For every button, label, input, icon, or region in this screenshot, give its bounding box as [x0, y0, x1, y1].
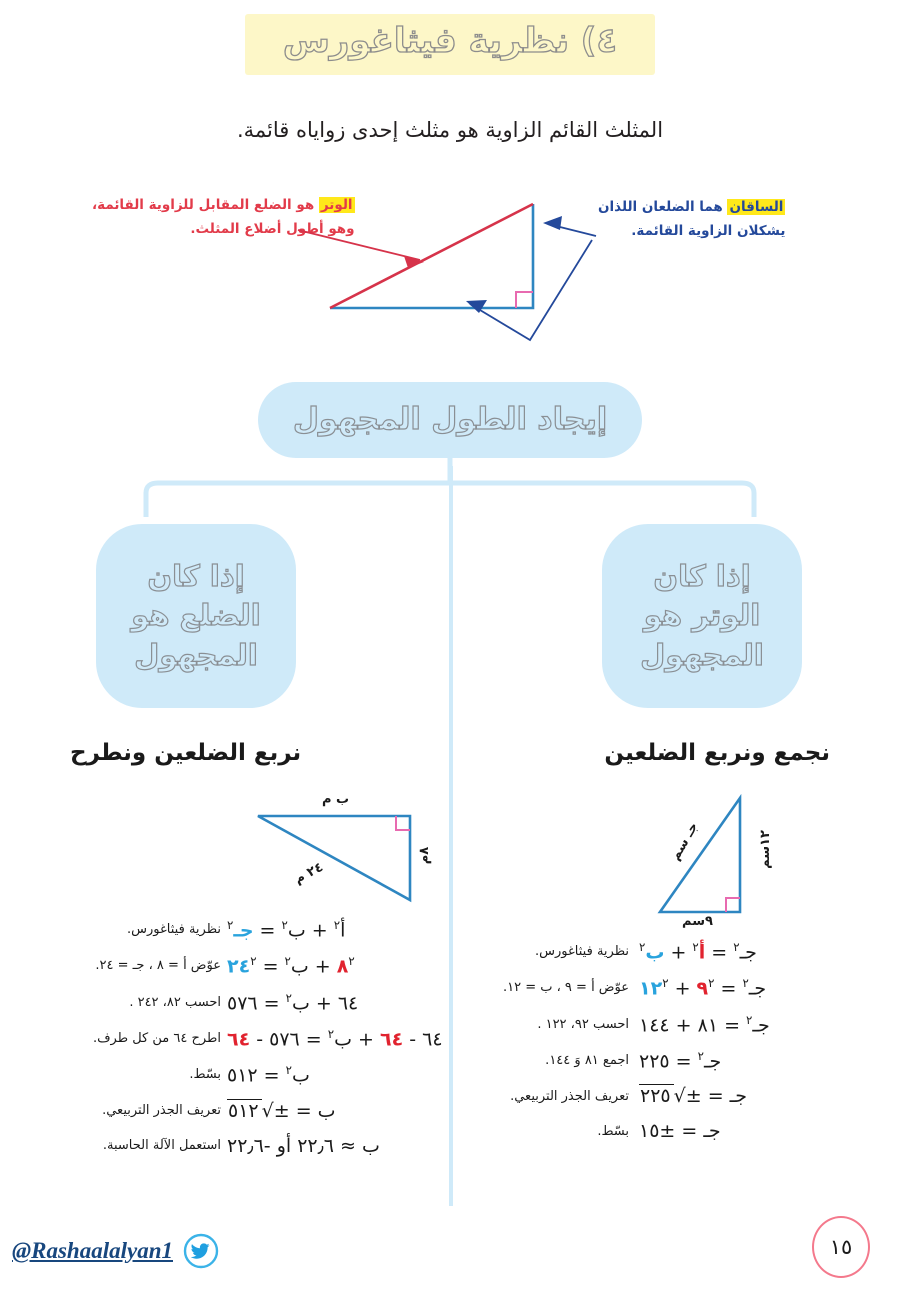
flow-box-hypotenuse-unknown: إذا كان الوتر هو المجهول: [602, 524, 802, 708]
proof-step-row: أ٢ + ب٢ = جـ٢نظرية فيثاغورس.: [52, 918, 452, 941]
twitter-handle-text[interactable]: @Rashaalalyan1: [12, 1238, 173, 1264]
proof-steps-left: أ٢ + ب٢ = جـ٢نظرية فيثاغورس.٨٢ + ب٢ = ٢٤…: [52, 918, 452, 1170]
equation-part: ٦٤: [380, 1028, 403, 1050]
proof-step-equation: جـ٢ = أ٢ + ب٢: [639, 940, 844, 963]
proof-step-row: ب = ±√٥١٢تعريف الجذر التربيعي.: [52, 1100, 452, 1122]
column-heading-right: نجمع ونربع الضلعين: [604, 740, 830, 766]
equation-part: ٦٤ -: [403, 1028, 442, 1050]
figure-right-angle-icon: [726, 898, 740, 912]
equation-part: ٥١٢: [227, 1099, 262, 1122]
equation-part: = ٥٧٦: [227, 992, 286, 1014]
definition-text: المثلث القائم الزاوية هو مثلث إحدى زوايا…: [0, 118, 900, 142]
proof-step-reason: عوّض أ = ٩ ، ب = ١٢.: [454, 980, 639, 995]
flow-box-left-line2: الضلع هو: [131, 596, 260, 635]
proof-step-equation: جـ = ±√٢٢٥: [639, 1085, 844, 1107]
equation-part: ب: [645, 941, 664, 963]
flow-box-right-line1: إذا كان: [640, 557, 764, 596]
title-highlight-badge: ٤) نظرية فيثاغورس: [245, 14, 655, 75]
figure-right-triangle: جـ سم ١٢سم ٩سم: [560, 790, 810, 920]
proof-step-row: ب ≈ ٢٢٫٦ أو -٢٢٫٦استعمل الآلة الحاسبة.: [52, 1135, 452, 1157]
equation-part: =: [705, 941, 733, 963]
flow-box-main-label: إيجاد الطول المجهول: [293, 400, 607, 441]
equation-part: =: [254, 919, 282, 941]
triangle-hypotenuse-path: [330, 204, 533, 308]
flow-box-right-label: إذا كان الوتر هو المجهول: [640, 557, 764, 674]
equation-part: ب: [291, 956, 309, 978]
flow-box-main: إيجاد الطول المجهول: [258, 382, 642, 458]
flow-box-left-line1: إذا كان: [131, 557, 260, 596]
proof-step-reason: عوّض أ = ٨ ، جـ = ٢٤.: [62, 958, 227, 973]
equation-part: +: [669, 978, 697, 1000]
proof-step-row: جـ٢ = ٢٢٥اجمع ٨١ وَ ١٤٤.: [444, 1049, 844, 1072]
triangle-svg: [0, 180, 900, 370]
proof-step-row: جـ = ±√٢٢٥تعريف الجذر التربيعي.: [444, 1085, 844, 1107]
proof-step-row: جـ٢ = أ٢ + ب٢نظرية فيثاغورس.: [444, 940, 844, 963]
proof-step-reason: تعريف الجذر التربيعي.: [62, 1103, 227, 1118]
proof-step-row: ٨٢ + ب٢ = ٢٤٢عوّض أ = ٨ ، جـ = ٢٤.: [52, 954, 452, 977]
equation-part: جـ = ±: [686, 1085, 747, 1107]
proof-step-reason: نظرية فيثاغورس.: [62, 922, 227, 937]
equation-part: ب = ±: [274, 1100, 336, 1122]
proof-step-equation: ٦٤ + ب٢ = ٥٧٦: [227, 991, 452, 1014]
equation-part: ٩: [697, 978, 709, 1000]
equation-part: ب: [292, 992, 310, 1014]
right-angle-marker-icon: [516, 292, 533, 308]
equation-part: ب: [292, 1065, 310, 1087]
proof-step-reason: احسب ٩٢، ١٢٢ .: [454, 1017, 639, 1032]
equation-part: أ: [340, 919, 345, 941]
equation-part: +: [664, 941, 692, 963]
proof-step-row: ٦٤ - ٦٤ + ب٢ = ٥٧٦ - ٦٤اطرح ٦٤ من كل طرف…: [52, 1027, 452, 1050]
figure-left-top-label: ب م: [322, 792, 349, 807]
equation-part: جـ: [233, 919, 253, 941]
proof-step-reason: بسّط.: [62, 1067, 227, 1082]
equation-part: = ٥١٢: [227, 1065, 286, 1087]
flow-box-right-line3: المجهول: [640, 636, 764, 675]
equation-part: ٢٢٥: [639, 1084, 674, 1107]
proof-step-reason: اجمع ٨١ وَ ١٤٤.: [454, 1053, 639, 1068]
equation-part: ٦٤: [227, 1028, 250, 1050]
hypotenuse-arrow-line: [298, 230, 420, 260]
equation-part: جـ: [704, 1050, 721, 1072]
equation-part: جـ = ±١٥: [639, 1120, 721, 1142]
proof-step-row: ب٢ = ٥١٢بسّط.: [52, 1063, 452, 1086]
page-title: ٤) نظرية فيثاغورس: [283, 20, 617, 63]
proof-step-reason: استعمل الآلة الحاسبة.: [62, 1138, 227, 1153]
twitter-icon[interactable]: [182, 1232, 220, 1270]
proof-step-equation: أ٢ + ب٢ = جـ٢: [227, 918, 452, 941]
proof-step-reason: نظرية فيثاغورس.: [454, 944, 639, 959]
proof-step-equation: ب = ±√٥١٢: [227, 1100, 452, 1122]
leg-arrow-line-lower: [470, 240, 592, 340]
figure-left-right-angle-icon: [396, 816, 410, 830]
flow-box-leg-unknown: إذا كان الضلع هو المجهول: [96, 524, 296, 708]
proof-step-row: جـ٢ = ٩٢ + ١٢٢عوّض أ = ٩ ، ب = ١٢.: [444, 976, 844, 999]
figure-left-svg: [240, 788, 510, 918]
proof-step-equation: ٨٢ + ب٢ = ٢٤٢: [227, 954, 452, 977]
proof-step-equation: ٦٤ - ٦٤ + ب٢ = ٥٧٦ - ٦٤: [227, 1027, 452, 1050]
right-triangle-diagram: الوتر هو الضلع المقابل للزاوية القائمة، …: [0, 180, 900, 370]
column-heading-left: نربع الضلعين ونطرح: [70, 740, 301, 766]
proof-step-row: جـ٢ = ٨١ + ١٤٤احسب ٩٢، ١٢٢ .: [444, 1013, 844, 1036]
figure-right-base-label: ٩سم: [682, 914, 713, 929]
equation-part: ٦٤ +: [310, 992, 358, 1014]
equation-part: جـ: [752, 1014, 769, 1036]
figure-left-triangle-path: [258, 816, 410, 900]
proof-step-row: جـ = ±١٥بسّط.: [444, 1120, 844, 1142]
page-number: ١٥: [812, 1216, 870, 1278]
proof-step-reason: احسب ٨٢، ٢٤٢ .: [62, 995, 227, 1010]
flow-box-left-line3: المجهول: [131, 636, 260, 675]
equation-part: ب ≈ ٢٢٫٦ أو -٢٢٫٦: [227, 1135, 380, 1157]
flow-box-right-line2: الوتر هو: [640, 596, 764, 635]
equation-part: +: [306, 919, 334, 941]
proof-step-equation: جـ = ±١٥: [639, 1120, 844, 1142]
leg-arrowhead-upper-icon: [543, 216, 562, 230]
twitter-credit[interactable]: @Rashaalalyan1: [12, 1232, 220, 1270]
proof-step-reason: بسّط.: [454, 1124, 639, 1139]
equation-part: √: [262, 1100, 274, 1122]
proof-step-equation: ب٢ = ٥١٢: [227, 1063, 452, 1086]
equation-part: =: [257, 956, 285, 978]
proof-step-reason: تعريف الجذر التربيعي.: [454, 1089, 639, 1104]
proof-step-equation: ب ≈ ٢٢٫٦ أو -٢٢٫٦: [227, 1135, 452, 1157]
equation-part: = ٥٧٦ -: [250, 1028, 328, 1050]
textbook-page: ٤) نظرية فيثاغورس المثلث القائم الزاوية …: [0, 0, 900, 1300]
equation-part: √: [674, 1085, 686, 1107]
page-title-container: ٤) نظرية فيثاغورس: [0, 14, 900, 75]
equation-part: = ٨١ + ١٤٤: [639, 1014, 746, 1036]
equation-part: =: [714, 978, 742, 1000]
equation-part: جـ: [749, 978, 766, 1000]
equation-part: +: [309, 956, 337, 978]
equation-part: جـ: [740, 941, 757, 963]
equation-part: +: [352, 1028, 380, 1050]
figure-left-triangle: ب م ٨م ٢٤ م: [240, 788, 510, 918]
equation-part: ب: [288, 919, 306, 941]
proof-step-reason: اطرح ٦٤ من كل طرف.: [62, 1031, 227, 1046]
equation-part: = ٢٢٥: [639, 1050, 698, 1072]
figure-right-vertical-label: ١٢سم: [758, 830, 773, 869]
proof-step-equation: جـ٢ = ٢٢٥: [639, 1049, 844, 1072]
equation-part: ٢: [348, 954, 354, 968]
proof-step-row: ٦٤ + ب٢ = ٥٧٦احسب ٨٢، ٢٤٢ .: [52, 991, 452, 1014]
leg-arrowhead-lower-icon: [466, 300, 487, 313]
equation-part: ٢٤: [227, 956, 250, 978]
equation-part: ٨: [337, 956, 349, 978]
figure-left-vertical-label: ٨م: [417, 847, 432, 864]
equation-part: ١٢: [639, 978, 662, 1000]
proof-steps-right: جـ٢ = أ٢ + ب٢نظرية فيثاغورس.جـ٢ = ٩٢ + ١…: [444, 940, 844, 1155]
proof-step-equation: جـ٢ = ٩٢ + ١٢٢: [639, 976, 844, 999]
proof-step-equation: جـ٢ = ٨١ + ١٤٤: [639, 1013, 844, 1036]
flow-box-left-label: إذا كان الضلع هو المجهول: [131, 557, 260, 674]
equation-part: ب: [334, 1028, 352, 1050]
